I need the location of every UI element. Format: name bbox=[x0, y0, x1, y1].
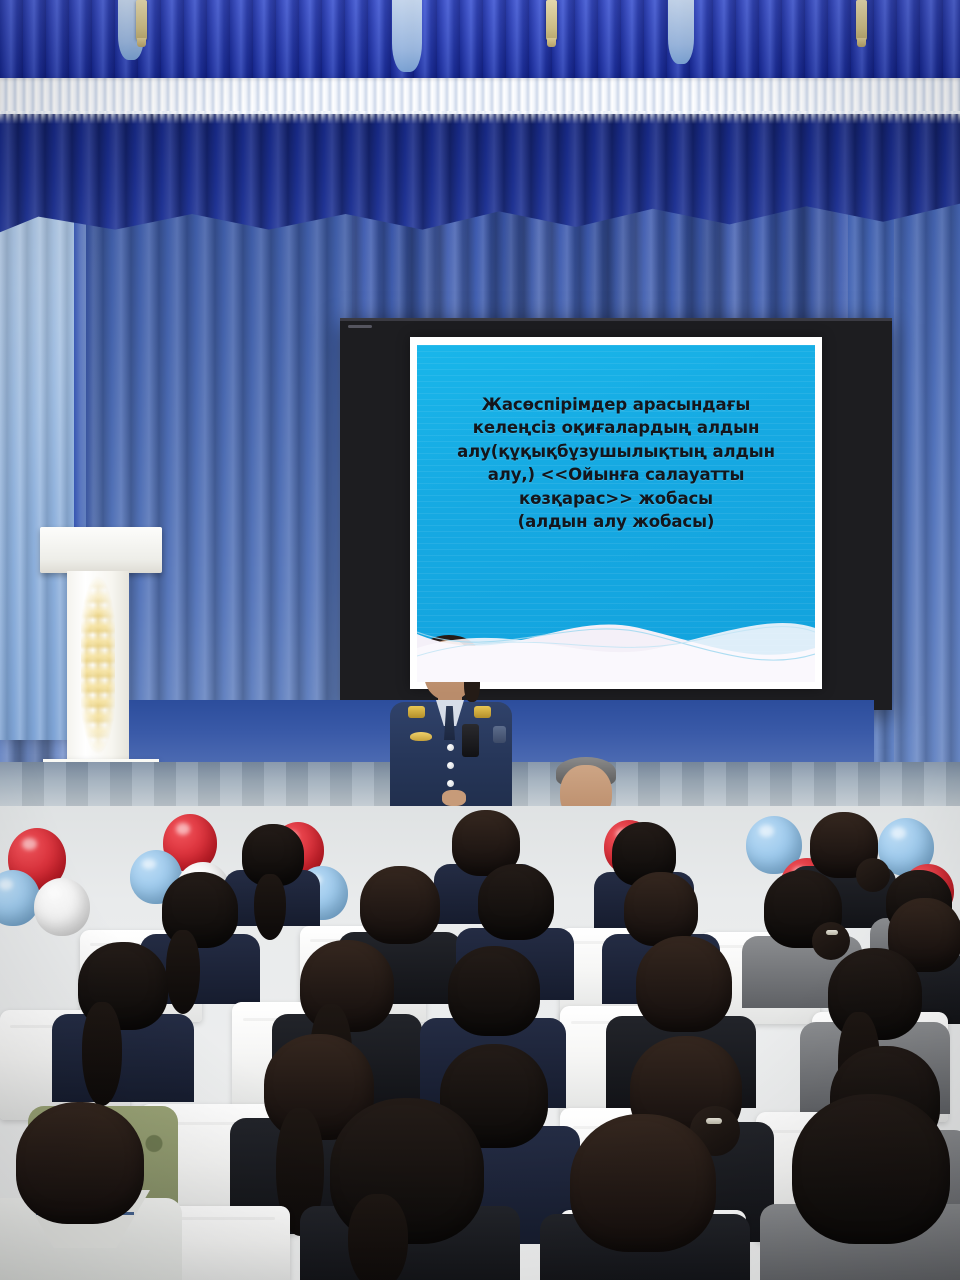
audience-member-head bbox=[624, 872, 698, 946]
audience-ponytail bbox=[166, 930, 200, 1014]
slide-line: алу(құқықбұзушылықтың алдын bbox=[437, 440, 795, 463]
curtain-tassel bbox=[546, 0, 557, 40]
audience-ponytail bbox=[254, 874, 286, 940]
podium bbox=[40, 527, 162, 797]
slide-line: көзқарас>> жобасы bbox=[437, 487, 795, 510]
slide-line: келеңсіз оқиғалардың алдын bbox=[437, 416, 795, 439]
audience-area: 54 bbox=[0, 806, 960, 1280]
curtain-fringe bbox=[0, 78, 960, 114]
presentation-slide: Жасөспірімдер арасындағы келеңсіз оқиғал… bbox=[410, 337, 822, 689]
kazakh-ornament-icon bbox=[81, 575, 115, 755]
slide-canvas: Жасөспірімдер арасындағы келеңсіз оқиғал… bbox=[417, 345, 815, 682]
slide-line: (алдын алу жобасы) bbox=[437, 510, 795, 533]
podium-column bbox=[67, 571, 129, 761]
audience-member-head bbox=[570, 1114, 716, 1252]
audience-member-head bbox=[636, 936, 732, 1032]
valance-slit bbox=[668, 0, 694, 64]
slide-title-text: Жасөспірімдер арасындағы келеңсіз оқиғал… bbox=[417, 345, 815, 534]
projection-screen-frame: Жасөспірімдер арасындағы келеңсіз оқиғал… bbox=[340, 318, 892, 710]
audience-hair-bun bbox=[856, 858, 890, 892]
slide-line: Жасөспірімдер арасындағы bbox=[437, 393, 795, 416]
audience-member-head bbox=[792, 1094, 950, 1244]
audience-hair-bun bbox=[812, 922, 850, 960]
officer-button bbox=[447, 744, 454, 751]
audience-ponytail bbox=[82, 1002, 122, 1106]
audience-member-head bbox=[478, 864, 554, 940]
audience-member-head bbox=[16, 1102, 144, 1224]
officer-epaulet-icon bbox=[474, 706, 491, 718]
audience-ponytail bbox=[348, 1194, 408, 1280]
curtain-tassel bbox=[136, 0, 147, 40]
officer-wing-badge-icon bbox=[410, 732, 432, 741]
officer-button bbox=[447, 780, 454, 787]
hair-clip bbox=[706, 1118, 722, 1124]
audience-member-head bbox=[448, 946, 540, 1036]
officer-epaulet-icon bbox=[408, 706, 425, 718]
hair-clip bbox=[826, 930, 838, 935]
balloon bbox=[34, 878, 90, 936]
slide-line: алу,) <<Ойынға салауатты bbox=[437, 463, 795, 486]
valance-slit bbox=[392, 0, 422, 72]
podium-top bbox=[40, 527, 162, 573]
assembly-hall-photo: Жасөспірімдер арасындағы келеңсіз оқиғал… bbox=[0, 0, 960, 1280]
curtain-tassel bbox=[856, 0, 867, 40]
officer-body-camera bbox=[462, 724, 479, 757]
officer-hand bbox=[442, 790, 466, 806]
officer-button bbox=[447, 762, 454, 769]
officer-sleeve-patch-icon bbox=[493, 726, 506, 743]
slide-wave-decoration bbox=[417, 604, 815, 682]
audience-member-head bbox=[360, 866, 440, 944]
